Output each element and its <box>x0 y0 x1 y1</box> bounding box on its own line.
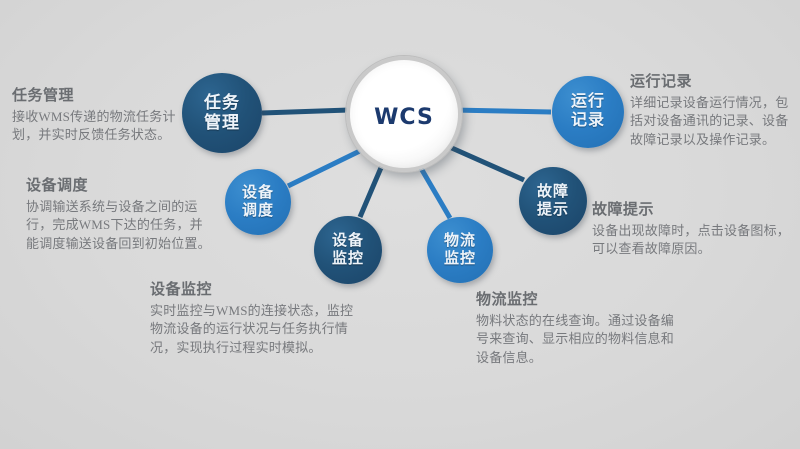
node-label-line2: 监控 <box>332 250 364 268</box>
annotation-title-device-dispatch: 设备调度 <box>26 174 212 195</box>
annotation-title-task-management: 任务管理 <box>12 84 190 105</box>
node-label-line2: 提示 <box>537 201 569 219</box>
connector-hub-to-operation-log <box>452 110 551 112</box>
node-operation-log[interactable]: 运行记录 <box>552 76 624 148</box>
node-label-line2: 管理 <box>204 113 240 133</box>
node-label-line2: 记录 <box>571 112 605 131</box>
node-label-line1: 设备 <box>332 232 364 250</box>
node-logistics-monitor[interactable]: 物流监控 <box>427 217 493 283</box>
connector-hub-to-task-management <box>262 110 349 113</box>
node-label-line1: 物流 <box>444 232 476 250</box>
annotation-title-fault-alert: 故障提示 <box>592 198 790 219</box>
node-device-dispatch[interactable]: 设备调度 <box>225 169 291 235</box>
node-device-monitor[interactable]: 设备监控 <box>314 216 382 284</box>
annotation-body-device-dispatch: 协调输送系统与设备之间的运行，完成WMS下达的任务，并能调度输送设备回到初始位置… <box>26 198 212 253</box>
wcs-diagram-canvas: 任务管理设备调度设备监控物流监控故障提示运行记录 WCS 任务管理接收WMS传递… <box>0 0 800 449</box>
annotation-body-operation-log: 详细记录设备运行情况，包括对设备通讯的记录、设备故障记录以及操作记录。 <box>630 94 796 149</box>
annotation-title-device-monitor: 设备监控 <box>150 278 358 299</box>
node-label-line1: 故障 <box>537 183 569 201</box>
annotation-device-dispatch: 设备调度协调输送系统与设备之间的运行，完成WMS下达的任务，并能调度输送设备回到… <box>26 174 212 253</box>
annotation-body-device-monitor: 实时监控与WMS的连接状态，监控物流设备的运行状况与任务执行情况，实现执行过程实… <box>150 302 358 357</box>
annotation-task-management: 任务管理接收WMS传递的物流任务计划，并实时反馈任务状态。 <box>12 84 190 145</box>
node-label-line2: 调度 <box>242 202 274 220</box>
node-label-line1: 设备 <box>242 184 274 202</box>
annotation-body-fault-alert: 设备出现故障时，点击设备图标，可以查看故障原因。 <box>592 222 790 259</box>
node-label-line1: 任务 <box>204 93 240 113</box>
node-label-line2: 监控 <box>444 250 476 268</box>
node-task-management[interactable]: 任务管理 <box>182 73 262 153</box>
connector-hub-to-device-dispatch <box>288 147 368 186</box>
annotation-fault-alert: 故障提示设备出现故障时，点击设备图标，可以查看故障原因。 <box>592 198 790 259</box>
node-label-line1: 运行 <box>571 93 605 112</box>
annotation-operation-log: 运行记录详细记录设备运行情况，包括对设备通讯的记录、设备故障记录以及操作记录。 <box>630 70 796 149</box>
annotation-title-logistics-monitor: 物流监控 <box>476 288 680 309</box>
annotation-device-monitor: 设备监控实时监控与WMS的连接状态，监控物流设备的运行状况与任务执行情况，实现执… <box>150 278 358 357</box>
annotation-logistics-monitor: 物流监控物料状态的在线查询。通过设备编号来查询、显示相应的物料信息和设备信息。 <box>476 288 680 367</box>
annotation-title-operation-log: 运行记录 <box>630 70 796 91</box>
annotation-body-logistics-monitor: 物料状态的在线查询。通过设备编号来查询、显示相应的物料信息和设备信息。 <box>476 312 680 367</box>
annotation-body-task-management: 接收WMS传递的物流任务计划，并实时反馈任务状态。 <box>12 108 190 145</box>
hub-node-wcs[interactable]: WCS <box>346 56 462 172</box>
hub-label: WCS <box>374 96 434 132</box>
node-fault-alert[interactable]: 故障提示 <box>519 167 587 235</box>
